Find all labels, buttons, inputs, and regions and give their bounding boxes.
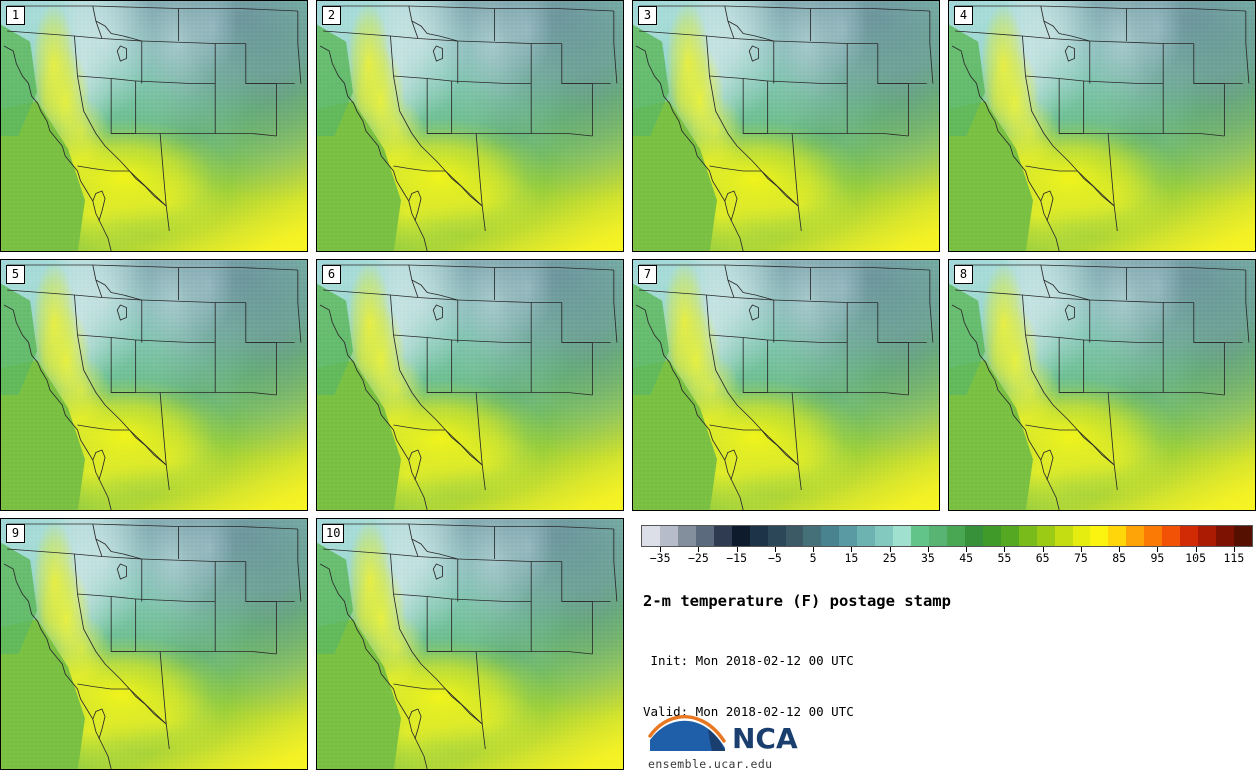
ncar-logo-block: NCAR ensemble.ucar.edu (648, 710, 898, 776)
colorbar-ticks: −35−25−15−55152535455565758595105115 (641, 547, 1253, 569)
colorbar-tick-label: −5 (768, 552, 782, 565)
colorbar-swatch (821, 526, 839, 546)
colorbar-swatch (768, 526, 786, 546)
colorbar-swatch (1037, 526, 1055, 546)
colorbar-swatch (893, 526, 911, 546)
colorbar-swatch (1234, 526, 1252, 546)
colorbar-tick-label: 5 (810, 552, 817, 565)
colorbar-swatch (642, 526, 660, 546)
colorbar-swatch (1126, 526, 1144, 546)
temperature-field (317, 519, 623, 769)
temperature-field (949, 1, 1255, 251)
temperature-field (317, 260, 623, 510)
panel-number-label: 1 (6, 6, 25, 25)
panel-number-label: 8 (954, 265, 973, 284)
colorbar-swatch (1001, 526, 1019, 546)
colorbar-swatch (1180, 526, 1198, 546)
temperature-field (949, 260, 1255, 510)
grid-texture (1, 260, 307, 510)
temperature-field (1, 1, 307, 251)
colorbar-swatch (1073, 526, 1091, 546)
grid-texture (1, 1, 307, 251)
figure-title: 2-m temperature (F) postage stamp (643, 592, 951, 610)
colorbar-swatch (678, 526, 696, 546)
stamp-panel-9[interactable]: 9 (0, 518, 308, 770)
stamp-panel-1[interactable]: 1 (0, 0, 308, 252)
colorbar: −35−25−15−55152535455565758595105115 (641, 525, 1253, 547)
colorbar-swatch (803, 526, 821, 546)
colorbar-tick-label: 15 (844, 552, 858, 565)
colorbar-swatch (786, 526, 804, 546)
colorbar-swatch (1198, 526, 1216, 546)
colorbar-swatch (1162, 526, 1180, 546)
svg-text:NCAR: NCAR (732, 722, 798, 755)
colorbar-swatch (1090, 526, 1108, 546)
stamp-panel-7[interactable]: 7 (632, 259, 940, 511)
temperature-field (1, 260, 307, 510)
grid-texture (633, 1, 939, 251)
panel-number-label: 3 (638, 6, 657, 25)
stamp-panel-3[interactable]: 3 (632, 0, 940, 252)
colorbar-swatch (1019, 526, 1037, 546)
colorbar-swatch (947, 526, 965, 546)
colorbar-tick-label: 95 (1150, 552, 1164, 565)
legend-area: −35−25−15−55152535455565758595105115 2-m… (636, 520, 1260, 778)
ncar-logo-icon: NCAR (648, 710, 798, 756)
colorbar-swatch (839, 526, 857, 546)
grid-texture (633, 260, 939, 510)
grid-texture (317, 519, 623, 769)
colorbar-swatches (641, 525, 1253, 547)
colorbar-tick-label: 75 (1074, 552, 1088, 565)
panel-number-label: 5 (6, 265, 25, 284)
colorbar-swatch (714, 526, 732, 546)
stamp-panel-8[interactable]: 8 (948, 259, 1256, 511)
stamp-panel-5[interactable]: 5 (0, 259, 308, 511)
colorbar-swatch (732, 526, 750, 546)
temperature-field (633, 1, 939, 251)
colorbar-swatch (660, 526, 678, 546)
temperature-field (1, 519, 307, 769)
colorbar-tick-label: 65 (1036, 552, 1050, 565)
temperature-field (633, 260, 939, 510)
colorbar-tick-label: 45 (959, 552, 973, 565)
panel-number-label: 2 (322, 6, 341, 25)
panel-number-label: 10 (322, 524, 344, 543)
colorbar-tick-label: 35 (921, 552, 935, 565)
colorbar-swatch (911, 526, 929, 546)
colorbar-swatch (1108, 526, 1126, 546)
colorbar-swatch (696, 526, 714, 546)
colorbar-tick-label: −15 (726, 552, 747, 565)
colorbar-swatch (965, 526, 983, 546)
panel-number-label: 7 (638, 265, 657, 284)
colorbar-tick-label: −35 (650, 552, 671, 565)
colorbar-tick-label: 55 (997, 552, 1011, 565)
colorbar-swatch (1055, 526, 1073, 546)
grid-texture (949, 260, 1255, 510)
grid-texture (949, 1, 1255, 251)
stamp-panel-2[interactable]: 2 (316, 0, 624, 252)
colorbar-tick-label: 105 (1185, 552, 1206, 565)
panel-number-label: 9 (6, 524, 25, 543)
ensemble-url-label: ensemble.ucar.edu (648, 757, 773, 771)
colorbar-tick-label: 115 (1223, 552, 1244, 565)
colorbar-swatch (983, 526, 1001, 546)
colorbar-swatch (857, 526, 875, 546)
grid-texture (317, 1, 623, 251)
stamp-panel-6[interactable]: 6 (316, 259, 624, 511)
grid-texture (317, 260, 623, 510)
temperature-field (317, 1, 623, 251)
stamp-panel-10[interactable]: 10 (316, 518, 624, 770)
colorbar-swatch (929, 526, 947, 546)
colorbar-swatch (875, 526, 893, 546)
panel-number-label: 4 (954, 6, 973, 25)
grid-texture (1, 519, 307, 769)
init-time: Init: Mon 2018-02-12 00 UTC (643, 652, 854, 669)
colorbar-swatch (750, 526, 768, 546)
stamp-panel-4[interactable]: 4 (948, 0, 1256, 252)
colorbar-tick-label: 85 (1112, 552, 1126, 565)
colorbar-tick-label: 25 (883, 552, 897, 565)
panel-number-label: 6 (322, 265, 341, 284)
colorbar-tick-label: −25 (688, 552, 709, 565)
colorbar-swatch (1144, 526, 1162, 546)
colorbar-swatch (1216, 526, 1234, 546)
